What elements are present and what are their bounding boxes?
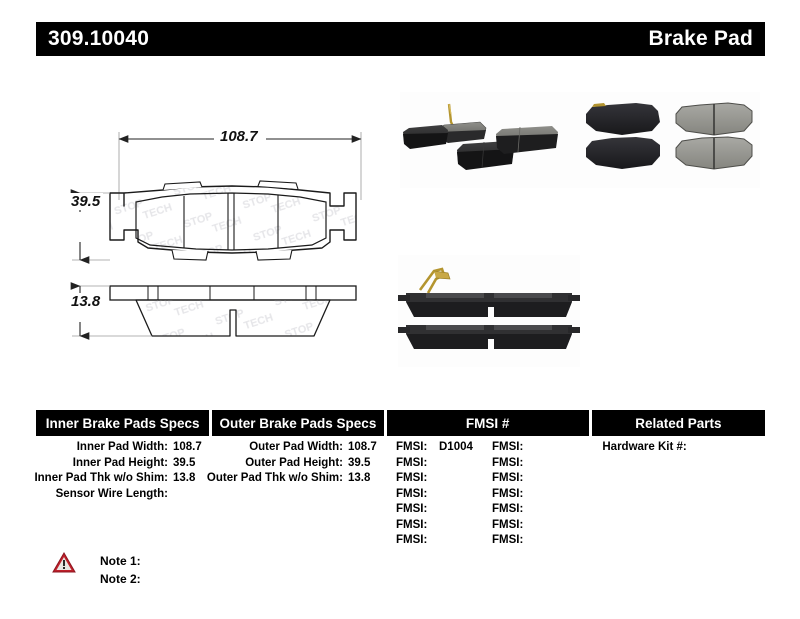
notes-section: Note 1: Note 2: <box>52 552 141 588</box>
fmsi-value <box>434 533 439 549</box>
fmsi-label: FMSI: <box>492 502 530 518</box>
dimension-height-label: 39.5 <box>68 193 103 210</box>
fmsi-value <box>434 487 439 503</box>
fmsi-subcolumn-2: FMSI: FMSI: FMSI: FMSI: <box>492 440 588 549</box>
fmsi-row: FMSI: <box>396 456 492 472</box>
fmsi-row: FMSI: <box>492 502 588 518</box>
header-fmsi: FMSI # <box>387 410 589 436</box>
fmsi-value: D1004 <box>434 440 473 456</box>
spec-row: Inner Pad Width: 108.7 <box>36 440 207 456</box>
fmsi-label: FMSI: <box>396 533 434 549</box>
fmsi-row: FMSI: D1004 <box>396 440 492 456</box>
dimension-width-label: 108.7 <box>217 128 261 145</box>
fmsi-row: FMSI: <box>492 456 588 472</box>
related-part-label: Hardware Kit #: <box>602 441 686 453</box>
drawing-area: STOP TECH <box>0 60 800 390</box>
fmsi-row: FMSI: <box>492 518 588 534</box>
spec-value <box>168 487 207 503</box>
fmsi-label: FMSI: <box>492 518 530 534</box>
fmsi-value <box>434 456 439 472</box>
spec-label: Outer Pad Width: <box>249 440 343 456</box>
header-inner-specs: Inner Brake Pads Specs <box>36 410 209 436</box>
specs-table: Inner Brake Pads Specs Outer Brake Pads … <box>36 410 765 549</box>
fmsi-value <box>530 471 535 487</box>
fmsi-value <box>530 533 535 549</box>
spec-row: Sensor Wire Length: <box>36 487 207 503</box>
spec-value: 108.7 <box>343 440 382 456</box>
header-related-parts: Related Parts <box>592 410 765 436</box>
spec-row: Outer Pad Thk w/o Shim: 13.8 <box>213 471 382 487</box>
fmsi-value <box>434 502 439 518</box>
fmsi-value <box>434 518 439 534</box>
specs-table-header-row: Inner Brake Pads Specs Outer Brake Pads … <box>36 410 765 436</box>
fmsi-row: FMSI: <box>492 471 588 487</box>
header-outer-specs: Outer Brake Pads Specs <box>212 410 383 436</box>
spec-value: 39.5 <box>343 456 382 472</box>
spec-label: Inner Pad Width: <box>77 440 168 456</box>
spec-label: Outer Pad Height: <box>245 456 343 472</box>
fmsi-row: FMSI: <box>396 502 492 518</box>
photo-pads-angled-group <box>400 92 580 188</box>
photo-pads-edge-pair <box>398 255 580 367</box>
specs-table-body: Inner Pad Width: 108.7 Inner Pad Height:… <box>36 440 765 549</box>
fmsi-label: FMSI: <box>396 518 434 534</box>
fmsi-row: FMSI: <box>396 471 492 487</box>
fmsi-value <box>530 518 535 534</box>
fmsi-value <box>530 456 535 472</box>
fmsi-value <box>434 471 439 487</box>
header-bar: 309.10040 Brake Pad <box>36 22 765 56</box>
spec-value: 13.8 <box>168 471 207 487</box>
related-part-row: Hardware Kit #: <box>592 440 765 456</box>
column-inner-specs: Inner Pad Width: 108.7 Inner Pad Height:… <box>36 440 213 549</box>
fmsi-label: FMSI: <box>492 456 530 472</box>
spec-value: 108.7 <box>168 440 207 456</box>
fmsi-row: FMSI: <box>492 440 588 456</box>
spec-value: 13.8 <box>343 471 382 487</box>
product-type: Brake Pad <box>648 27 753 51</box>
fmsi-label: FMSI: <box>396 440 434 456</box>
warning-triangle-icon <box>52 552 76 573</box>
fmsi-value <box>530 487 535 503</box>
spec-row: Inner Pad Thk w/o Shim: 13.8 <box>36 471 207 487</box>
note-1: Note 1: <box>100 552 141 570</box>
fmsi-row: FMSI: <box>396 487 492 503</box>
fmsi-row: FMSI: <box>396 518 492 534</box>
column-fmsi: FMSI: D1004 FMSI: FMSI: FMSI: <box>388 440 592 549</box>
spec-sheet-page: 309.10040 Brake Pad STOP TECH <box>0 0 800 619</box>
fmsi-label: FMSI: <box>396 487 434 503</box>
fmsi-label: FMSI: <box>492 440 530 456</box>
column-outer-specs: Outer Pad Width: 108.7 Outer Pad Height:… <box>213 440 388 549</box>
fmsi-row: FMSI: <box>492 487 588 503</box>
fmsi-label: FMSI: <box>396 471 434 487</box>
spec-label: Inner Pad Height: <box>73 456 168 472</box>
dimension-thickness-label: 13.8 <box>68 293 103 310</box>
spec-label: Sensor Wire Length: <box>56 487 168 503</box>
fmsi-subcolumn-1: FMSI: D1004 FMSI: FMSI: FMSI: <box>396 440 492 549</box>
photo-pads-top-group <box>578 92 760 188</box>
spec-row: Inner Pad Height: 39.5 <box>36 456 207 472</box>
fmsi-label: FMSI: <box>492 471 530 487</box>
note-2: Note 2: <box>100 570 141 588</box>
spec-row: Outer Pad Height: 39.5 <box>213 456 382 472</box>
technical-drawings: STOP TECH <box>0 60 400 390</box>
fmsi-row: FMSI: <box>396 533 492 549</box>
fmsi-value <box>530 440 535 456</box>
spec-value: 39.5 <box>168 456 207 472</box>
spec-row: Outer Pad Width: 108.7 <box>213 440 382 456</box>
fmsi-label: FMSI: <box>396 502 434 518</box>
spec-label: Inner Pad Thk w/o Shim: <box>34 471 168 487</box>
fmsi-label: FMSI: <box>492 487 530 503</box>
column-related-parts: Hardware Kit #: <box>592 440 765 549</box>
spec-label: Outer Pad Thk w/o Shim: <box>207 471 343 487</box>
part-number: 309.10040 <box>48 27 149 51</box>
fmsi-label: FMSI: <box>396 456 434 472</box>
fmsi-row: FMSI: <box>492 533 588 549</box>
fmsi-label: FMSI: <box>492 533 530 549</box>
fmsi-value <box>530 502 535 518</box>
